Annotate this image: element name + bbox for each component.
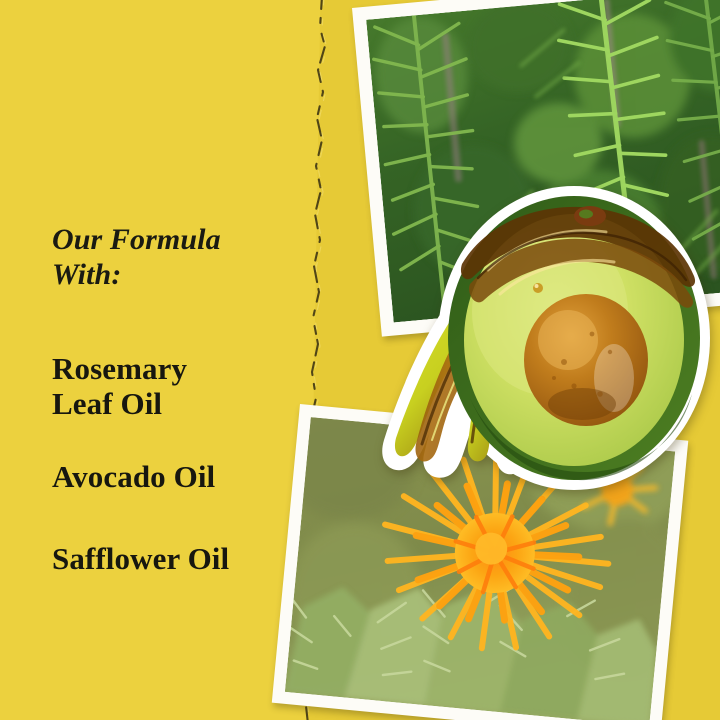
ingredient-rosemary-line-1: Rosemary xyxy=(52,352,292,387)
ingredient-safflower-line-1: Safflower Oil xyxy=(52,542,312,577)
ingredient-rosemary-line-2: Leaf Oil xyxy=(52,387,292,422)
page-title: Our Formula With: xyxy=(52,222,292,292)
headline-line-1: Our Formula xyxy=(52,222,292,257)
ingredient-avocado-line-1: Avocado Oil xyxy=(52,460,302,495)
avocado-sticker xyxy=(378,172,720,494)
headline-line-2: With: xyxy=(52,257,292,292)
poster-canvas: Our Formula With: Rosemary Leaf Oil Avoc… xyxy=(0,0,720,720)
ingredient-rosemary-leaf-oil: Rosemary Leaf Oil xyxy=(52,352,292,421)
ingredient-safflower-oil: Safflower Oil xyxy=(52,542,312,577)
ingredient-avocado-oil: Avocado Oil xyxy=(52,460,302,495)
